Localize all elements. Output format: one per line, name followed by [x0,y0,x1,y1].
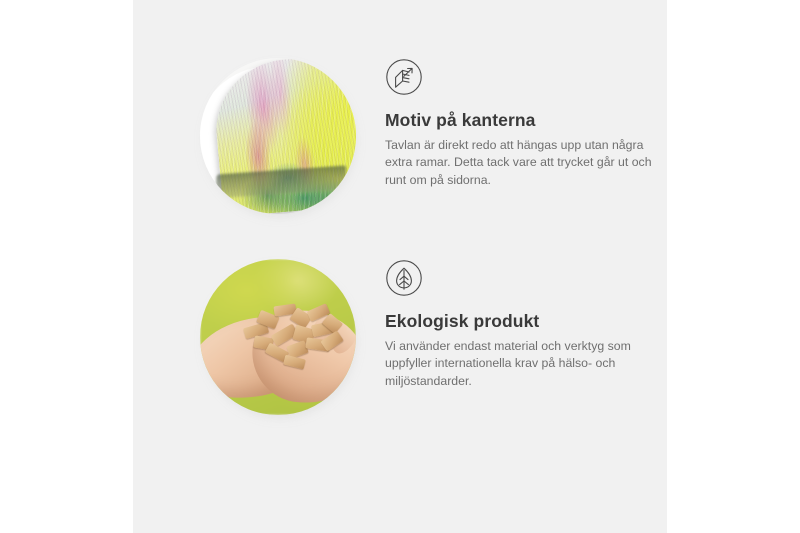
wood-chips-hands-photo [200,259,356,415]
canvas-corner-photo-wrapper [200,58,356,214]
feature-2-title: Ekologisk produkt [385,297,670,332]
feature-2-content: Ekologisk produkt Vi använder endast mat… [385,259,670,390]
feature-1-content: Motiv på kanterna Tavlan är direkt redo … [385,58,670,189]
wood-chips-photo-wrapper [200,259,356,415]
feature-2-body: Vi använder endast material och verktyg … [385,332,657,390]
canvas-edge-arrow-icon [385,58,423,96]
eco-scene [200,259,356,415]
canvas-corner-photo [200,58,356,214]
wood-chip-pile [240,303,344,363]
leaf-icon [385,259,423,297]
feature-1-body: Tavlan är direkt redo att hängas upp uta… [385,131,657,189]
content-panel: Motiv på kanterna Tavlan är direkt redo … [133,0,667,533]
product-feature-infographic: Motiv på kanterna Tavlan är direkt redo … [0,0,800,533]
canvas-scene [200,58,356,214]
feature-1-title: Motiv på kanterna [385,96,670,131]
